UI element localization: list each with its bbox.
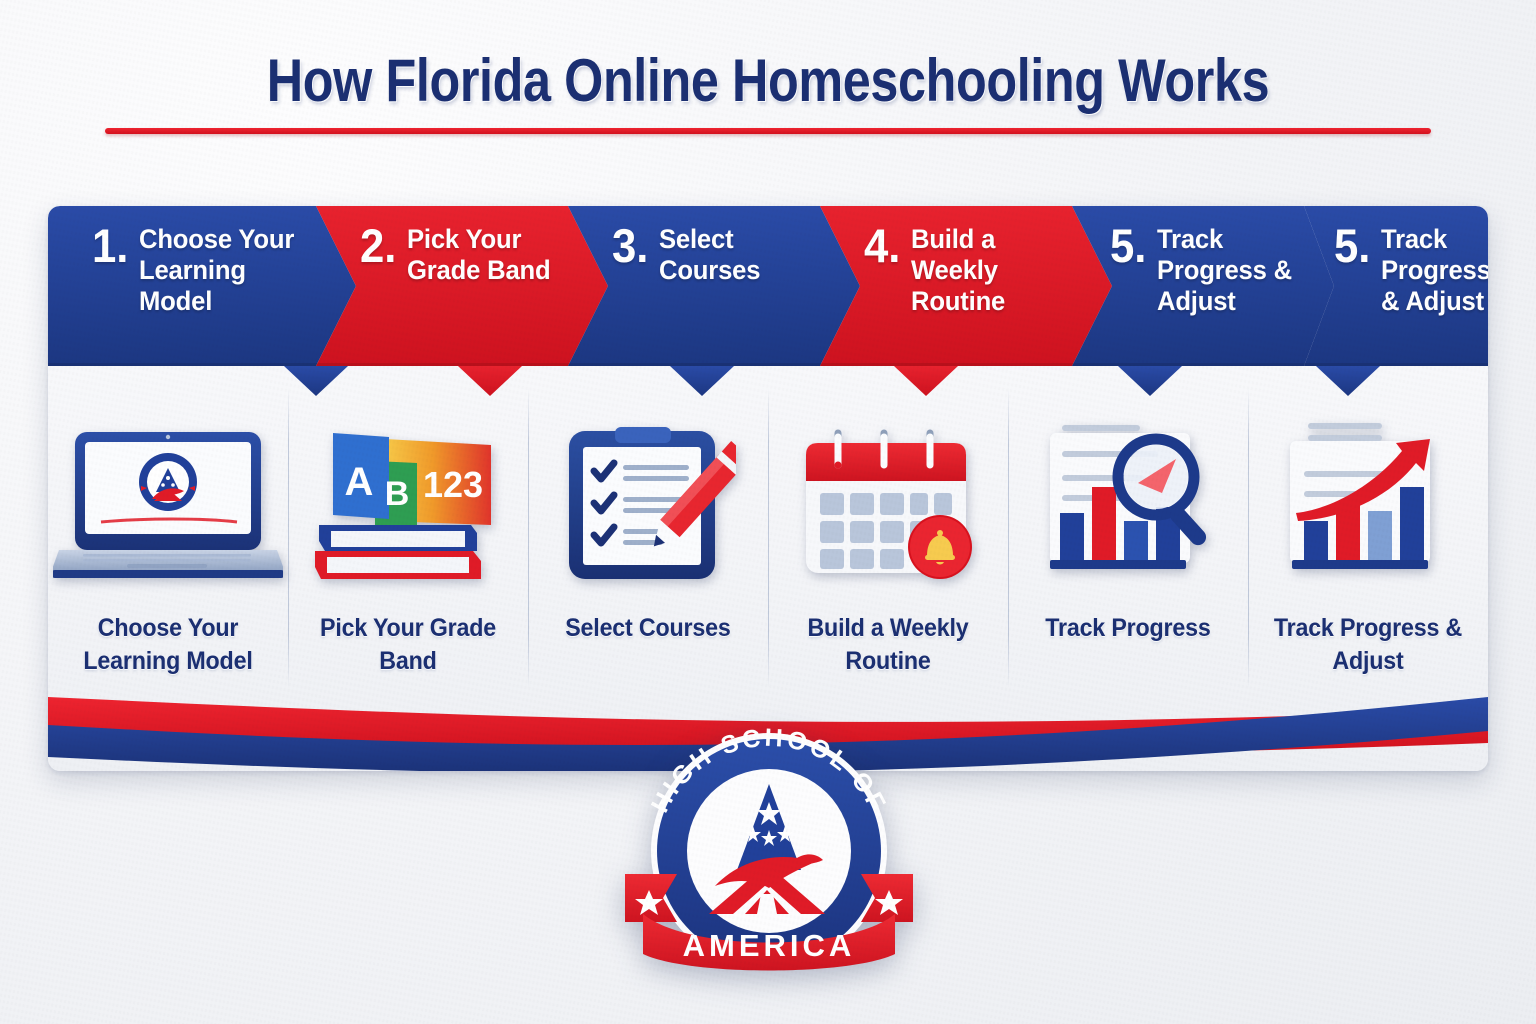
step-title-1: Choose Your Learning Model — [139, 224, 307, 316]
step-number-6: 5. — [1334, 224, 1370, 267]
laptop-logo-icon — [53, 426, 283, 586]
steps-columns: Choose Your Learning Model A — [48, 366, 1488, 706]
steps-header-bar: 1. Choose Your Learning Model 2. Pick Yo… — [48, 206, 1488, 366]
step-number-3: 3. — [612, 224, 648, 267]
svg-text:A: A — [345, 460, 374, 504]
bar-chart-magnifier-icon — [1038, 421, 1218, 591]
step-caption-3: Select Courses — [565, 612, 730, 645]
step-header-1[interactable]: 1. Choose Your Learning Model — [48, 206, 316, 366]
step-title-5: Track Progress & Adjust — [1157, 224, 1296, 316]
step-number-4: 4. — [864, 224, 900, 267]
clipboard-checklist-pencil-icon — [561, 421, 736, 591]
step-header-6[interactable]: 5. Track Progress & Adjust — [1304, 206, 1488, 366]
step-icon-4-box — [796, 406, 981, 606]
step-caption-5: Track Progress — [1045, 612, 1210, 645]
step-header-3[interactable]: 3. Select Courses — [568, 206, 820, 366]
bar-chart-growth-arrow-icon — [1278, 421, 1458, 591]
svg-text:123: 123 — [423, 464, 483, 505]
step-number-1: 1. — [92, 224, 128, 267]
step-column-5[interactable]: Track Progress — [1008, 366, 1248, 706]
school-seal-logo: HIGH SCHOOL OF AMERICA — [619, 718, 919, 980]
step-column-4[interactable]: Build a Weekly Routine — [768, 366, 1008, 706]
step-title-3: Select Courses — [659, 224, 812, 286]
step-header-4[interactable]: 4. Build a Weekly Routine — [820, 206, 1072, 366]
step-caption-6: Track Progress & Adjust — [1256, 612, 1479, 677]
step-title-6: Track Progress & Adjust — [1381, 224, 1488, 316]
step-title-2: Pick Your Grade Band — [407, 224, 560, 286]
step-column-3[interactable]: Select Courses — [528, 366, 768, 706]
step-column-1[interactable]: Choose Your Learning Model — [48, 366, 288, 706]
svg-text:B: B — [385, 475, 410, 513]
title-underline-rule — [105, 128, 1431, 134]
calendar-bell-icon — [796, 421, 981, 591]
page-title: How Florida Online Homeschooling Works — [123, 46, 1413, 115]
step-caption-4: Build a Weekly Routine — [776, 612, 999, 677]
step-number-2: 2. — [360, 224, 396, 267]
step-icon-6-box — [1278, 406, 1458, 606]
step-header-5[interactable]: 5. Track Progress & Adjust — [1072, 206, 1304, 366]
step-icon-5-box — [1038, 406, 1218, 606]
school-seal-svg: HIGH SCHOOL OF AMERICA — [619, 718, 919, 980]
step-number-5: 5. — [1110, 224, 1146, 267]
step-title-4: Build a Weekly Routine — [911, 224, 1064, 316]
infographic-card: 1. Choose Your Learning Model 2. Pick Yo… — [48, 206, 1488, 771]
step-column-6[interactable]: Track Progress & Adjust — [1248, 366, 1488, 706]
step-column-2[interactable]: A B 123 Pick Your Grade Band — [288, 366, 528, 706]
seal-bottom-text: AMERICA — [683, 928, 856, 963]
step-icon-3-box — [561, 406, 736, 606]
step-caption-2: Pick Your Grade Band — [296, 612, 519, 677]
step-caption-1: Choose Your Learning Model — [56, 612, 279, 677]
step-icon-2-box: A B 123 — [313, 406, 503, 606]
step-header-2[interactable]: 2. Pick Your Grade Band — [316, 206, 568, 366]
step-icon-1-box — [53, 406, 283, 606]
books-abc-123-icon: A B 123 — [313, 421, 503, 591]
page-title-wrap: How Florida Online Homeschooling Works — [0, 46, 1536, 115]
